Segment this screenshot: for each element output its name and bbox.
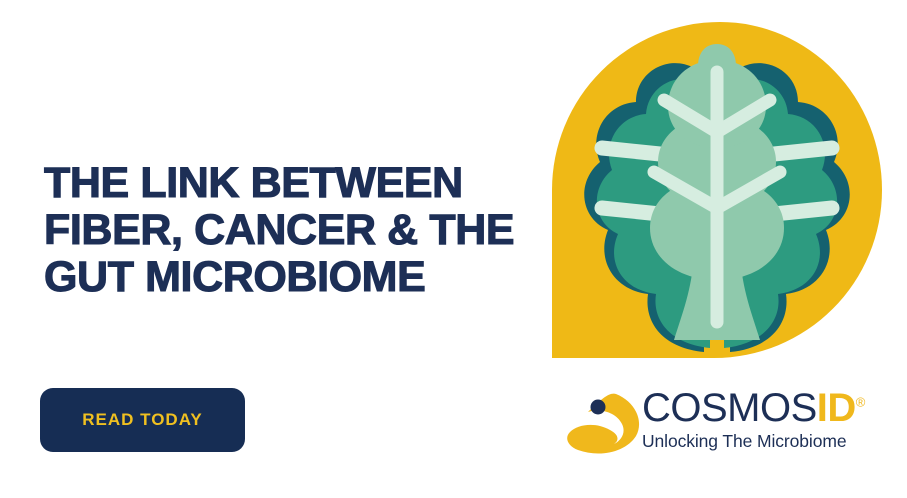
- wordmark-accent: ID: [817, 386, 856, 430]
- wordmark-primary: COSMOS: [642, 386, 817, 430]
- cosmosid-wordmark-group: COSMOSID® Unlocking The Microbiome: [642, 386, 852, 452]
- page-title: The Link Between Fiber, Cancer & The Gut…: [44, 160, 544, 301]
- cosmosid-wordmark: COSMOSID®: [642, 386, 852, 430]
- leafy-green-illustration: [552, 22, 882, 358]
- cosmosid-logo: COSMOSID® Unlocking The Microbiome: [566, 386, 846, 458]
- logo-tagline: Unlocking The Microbiome: [642, 431, 852, 452]
- promotional-banner: The Link Between Fiber, Cancer & The Gut…: [0, 0, 907, 498]
- read-today-button[interactable]: Read Today: [40, 388, 245, 452]
- registered-trademark-symbol: ®: [856, 395, 865, 410]
- cosmosid-logo-mark-icon: [566, 388, 644, 456]
- read-today-button-label: Read Today: [82, 410, 203, 430]
